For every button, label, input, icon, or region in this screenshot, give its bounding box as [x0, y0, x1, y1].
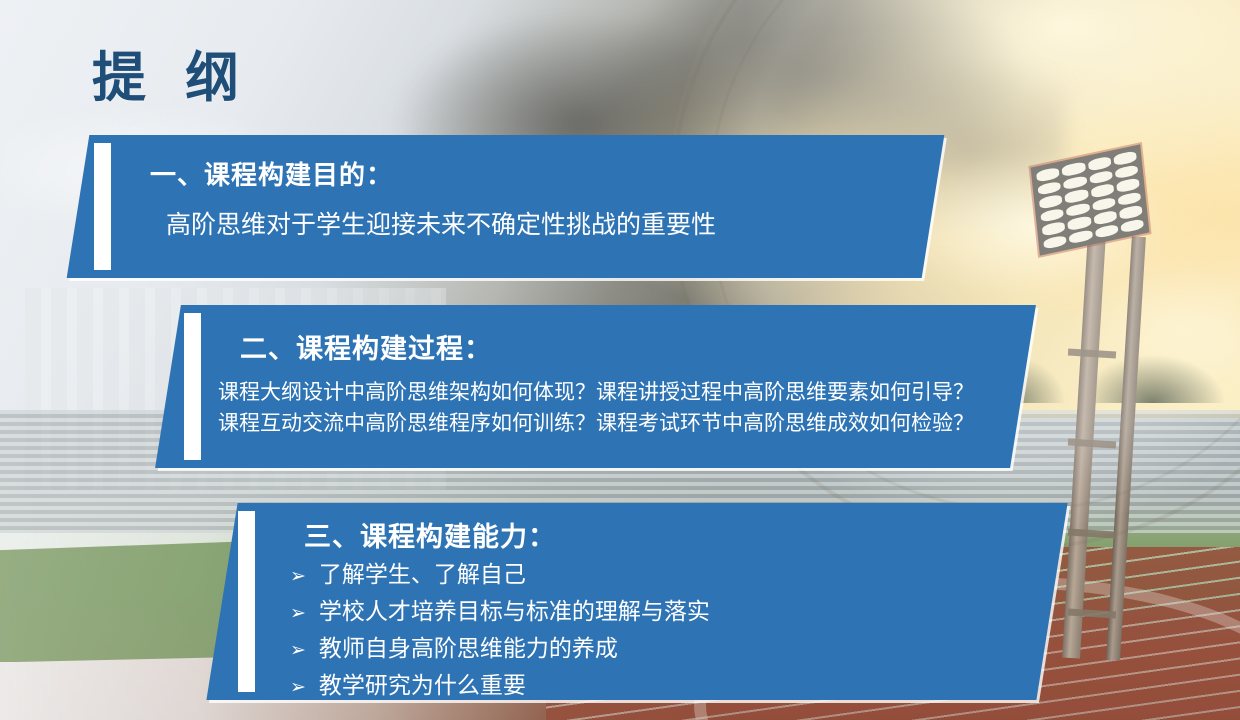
tower-mast-right: [1106, 236, 1146, 660]
arrow-bullet-icon: ➢: [290, 597, 306, 631]
list-item-label: 教师自身高阶思维能力的养成: [319, 631, 618, 665]
outline-panel-1[interactable]: 一、课程构建目的： 高阶思维对于学生迎接未来不确定性挑战的重要性: [67, 135, 945, 278]
panel-accent-slash: [94, 143, 111, 270]
list-item: ➢ 了解学生、了解自己: [290, 557, 710, 594]
panel-2-body: 课程大纲设计中高阶思维架构如何体现？课程讲授过程中高阶思维要素如何引导？ 课程互…: [218, 377, 974, 439]
arrow-bullet-icon: ➢: [290, 634, 306, 668]
panel-2-line: 课程大纲设计中高阶思维架构如何体现？课程讲授过程中高阶思维要素如何引导？: [218, 377, 974, 408]
outline-panel-2[interactable]: 二、课程构建过程： 课程大纲设计中高阶思维架构如何体现？课程讲授过程中高阶思维要…: [155, 305, 1036, 468]
presentation-slide: 理工 VERSITYOFTECHNO 提 纲 一、课程构建目的： 高阶思维对于学…: [0, 0, 1240, 720]
list-item: ➢ 教师自身高阶思维能力的养成: [290, 631, 710, 668]
panel-3-heading: 三、课程构建能力：: [304, 515, 556, 554]
list-item-label: 了解学生、了解自己: [319, 557, 526, 591]
panel-accent-slash: [184, 313, 201, 460]
panel-1-heading: 一、课程构建目的：: [150, 155, 393, 192]
list-item-label: 教学研究为什么重要: [319, 668, 526, 702]
tower-rung: [1068, 349, 1116, 359]
panel-3-bullet-list: ➢ 了解学生、了解自己 ➢ 学校人才培养目标与标准的理解与落实 ➢ 教师自身高阶…: [290, 557, 710, 705]
page-title: 提 纲: [92, 33, 251, 112]
arrow-bullet-icon: ➢: [290, 671, 306, 705]
panel-2-heading: 二、课程构建过程：: [240, 327, 492, 366]
list-item: ➢ 学校人才培养目标与标准的理解与落实: [290, 594, 710, 631]
arrow-bullet-icon: ➢: [290, 560, 306, 594]
list-item-label: 学校人才培养目标与标准的理解与落实: [319, 594, 710, 628]
list-item: ➢ 教学研究为什么重要: [290, 668, 710, 705]
panel-1-subtitle: 高阶思维对于学生迎接未来不确定性挑战的重要性: [166, 205, 716, 241]
panel-2-line: 课程互动交流中高阶思维程序如何训练？课程考试环节中高阶思维成效如何检验？: [218, 408, 974, 439]
panel-accent-slash: [238, 511, 255, 692]
outline-panel-3[interactable]: 三、课程构建能力： ➢ 了解学生、了解自己 ➢ 学校人才培养目标与标准的理解与落…: [206, 503, 1067, 700]
